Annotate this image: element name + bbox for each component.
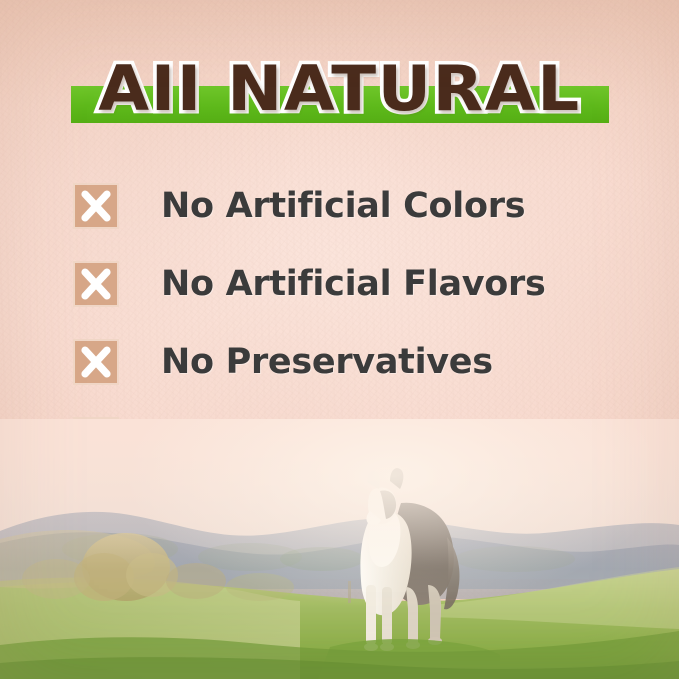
claim-label: No Preservatives [161, 339, 493, 385]
landscape-photo [0, 419, 679, 679]
claim-label: No Artificial Colors [161, 183, 525, 229]
page-title: AII NATURAL [0, 52, 679, 126]
all-natural-poster: AII NATURAL No Artificial Colors No Arti… [0, 0, 679, 679]
x-mark-icon [73, 339, 119, 385]
claim-label: No Artificial Flavors [161, 261, 546, 307]
list-item: No Artificial Colors [73, 183, 613, 229]
headline-block: AII NATURAL [0, 52, 679, 128]
list-item: No Artificial Flavors [73, 261, 613, 307]
list-item: No Preservatives [73, 339, 613, 385]
x-mark-icon [73, 183, 119, 229]
x-mark-icon [73, 261, 119, 307]
